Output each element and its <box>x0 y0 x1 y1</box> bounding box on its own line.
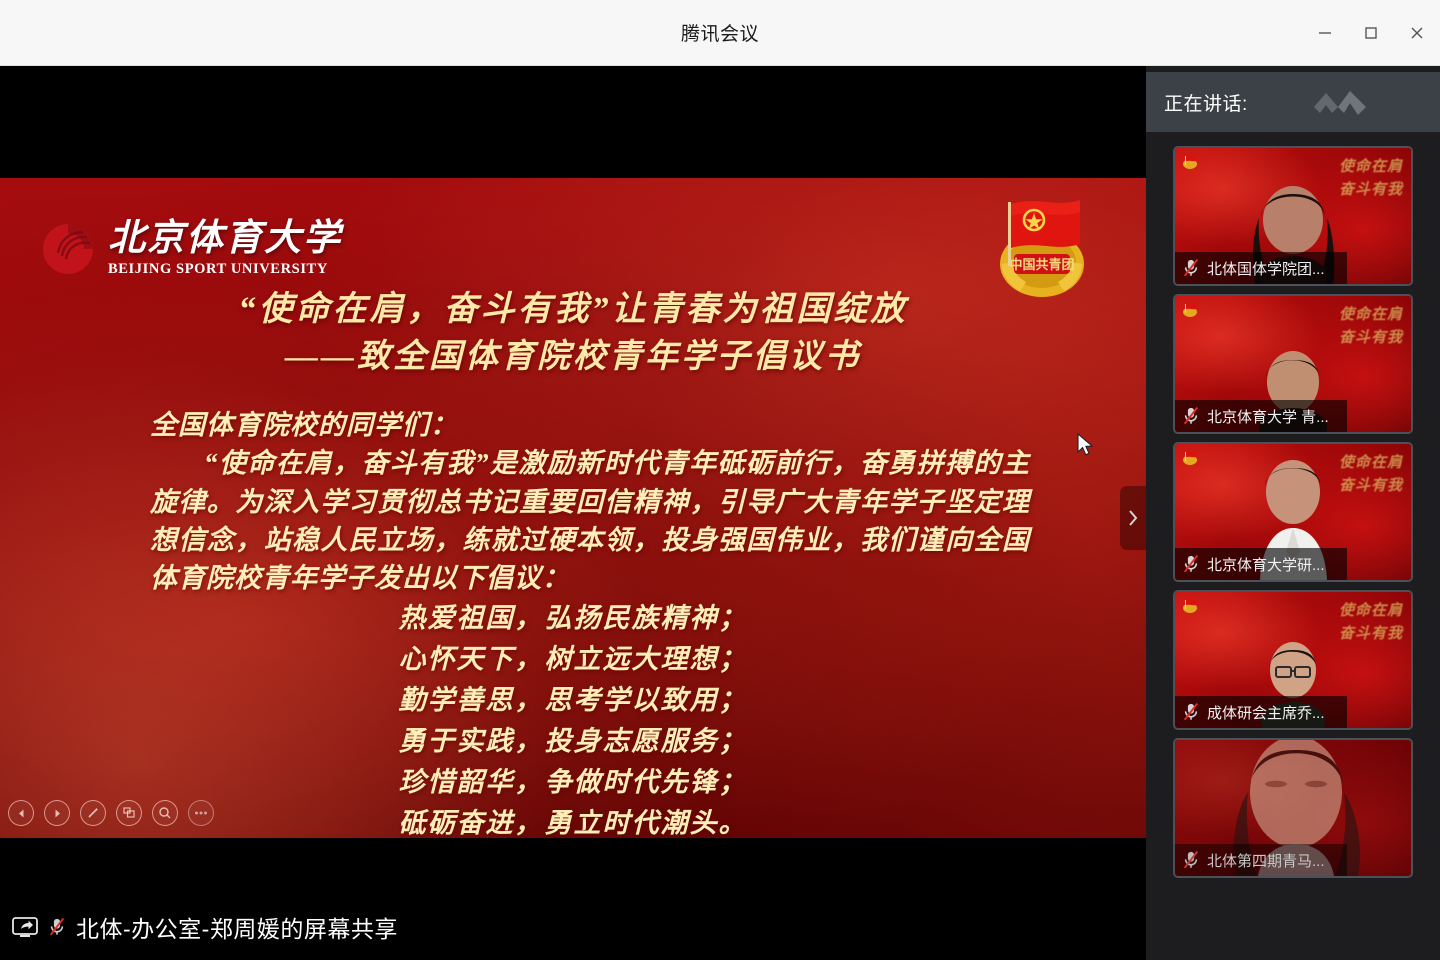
participant-name-bar: 北京体育大学研... <box>1175 548 1347 580</box>
magnifier-icon[interactable] <box>152 800 178 826</box>
microphone-muted-icon <box>48 917 66 937</box>
maximize-button[interactable] <box>1348 0 1394 66</box>
pledge-clause-b: 思考学以致用； <box>545 680 748 721</box>
cyl-badge-icon <box>1181 302 1199 318</box>
svg-text:中国共青团: 中国共青团 <box>1009 257 1074 272</box>
participant-name-bar: 北体第四期青马... <box>1175 844 1347 876</box>
participant-name: 北京体育大学研... <box>1207 554 1325 575</box>
participant-rail: 正在讲话: 使命在肩 奋斗有我 <box>1146 66 1440 960</box>
share-status-bar: 北体-办公室-郑周媛的屏幕共享 <box>0 894 1146 960</box>
slide-paragraph: “使命在肩，奋斗有我”是激励新时代青年砥砺前行，奋勇拼搏的主旋律。为深入学习贯彻… <box>150 444 1030 597</box>
pledge-clause-a: 勇于实践， <box>399 721 545 762</box>
slide-title-line1: “使命在肩，奋斗有我”让青春为祖国绽放 <box>0 286 1146 334</box>
participant-name-bar: 北京体育大学 青... <box>1175 400 1347 432</box>
cyl-badge-icon <box>1181 450 1199 466</box>
list-item: 热爱祖国，弘扬民族精神； <box>399 598 748 639</box>
list-item: 心怀天下，树立远大理想； <box>399 639 748 680</box>
pledge-clause-a: 心怀天下， <box>399 639 545 680</box>
slide-overview-icon[interactable] <box>116 800 142 826</box>
pledge-clause-b: 投身志愿服务； <box>545 721 748 762</box>
bsu-swirl-icon <box>40 221 96 277</box>
tencent-meeting-window: 腾讯会议 <box>0 0 1440 960</box>
microphone-muted-icon <box>1182 702 1200 722</box>
microphone-muted-icon <box>1182 258 1200 278</box>
pledge-clause-b: 争做时代先锋； <box>545 762 748 803</box>
shared-slide[interactable]: 北京体育大学 BEIJING SPORT UNIVERSITY 中国共青团 <box>0 178 1146 838</box>
cyl-emblem-icon: 中国共青团 <box>980 192 1104 302</box>
participant-tiles: 使命在肩 奋斗有我 <box>1146 138 1440 960</box>
mouse-cursor-icon <box>1077 433 1095 459</box>
microphone-muted-icon <box>1182 554 1200 574</box>
university-name-cn: 北京体育大学 <box>108 220 342 257</box>
participant-tile[interactable]: 使命在肩 奋斗有我 <box>1173 146 1413 286</box>
participant-tile[interactable]: 使命在肩 奋斗有我 <box>1173 442 1413 582</box>
chevron-right-icon <box>1125 506 1141 530</box>
screen-share-icon <box>12 916 38 938</box>
pledge-clause-a: 砥砺奋进， <box>399 803 545 838</box>
participant-name-bar: 成体研会主席乔... <box>1175 696 1347 728</box>
slide-title: “使命在肩，奋斗有我”让青春为祖国绽放 ——致全国体育院校青年学子倡议书 <box>0 286 1146 381</box>
pledge-clause-a: 珍惜韶华， <box>399 762 545 803</box>
slide-body: 全国体育院校的同学们： “使命在肩，奋斗有我”是激励新时代青年砥砺前行，奋勇拼搏… <box>150 406 1030 598</box>
participant-name: 北体国体学院团... <box>1207 258 1325 279</box>
microphone-muted-icon <box>1182 406 1200 426</box>
pledge-clause-b: 弘扬民族精神； <box>545 598 748 639</box>
active-speaker-bar: 正在讲话: <box>1146 72 1440 132</box>
list-item: 珍惜韶华，争做时代先锋； <box>399 762 748 803</box>
slide-title-line2: ——致全国体育院校青年学子倡议书 <box>0 334 1146 381</box>
university-name-en: BEIJING SPORT UNIVERSITY <box>108 261 342 278</box>
pledge-clause-b: 树立远大理想； <box>545 639 748 680</box>
tencent-meeting-logo-icon <box>1308 83 1374 121</box>
prev-slide-button[interactable] <box>8 800 34 826</box>
pledge-clause-a: 勤学善思， <box>399 680 545 721</box>
close-button[interactable] <box>1394 0 1440 66</box>
participant-name: 成体研会主席乔... <box>1207 702 1325 723</box>
minimize-button[interactable] <box>1302 0 1348 66</box>
collapse-panel-button[interactable] <box>1120 486 1146 550</box>
shared-screen-stage[interactable]: 北京体育大学 BEIJING SPORT UNIVERSITY 中国共青团 <box>0 66 1146 960</box>
participant-name-bar: 北体国体学院团... <box>1175 252 1347 284</box>
cyl-badge-icon <box>1181 154 1199 170</box>
cyl-badge-icon <box>1181 598 1199 614</box>
participant-tile[interactable]: 使命在肩 奋斗有我 <box>1173 294 1413 434</box>
presentation-toolbar[interactable] <box>8 800 214 826</box>
active-speaker-label: 正在讲话: <box>1164 89 1248 116</box>
participant-name: 北京体育大学 青... <box>1207 406 1329 427</box>
participant-tile[interactable]: 北体第四期青马... <box>1173 738 1413 878</box>
participant-name: 北体第四期青马... <box>1207 850 1325 871</box>
title-bar: 腾讯会议 <box>0 0 1440 66</box>
pen-icon[interactable] <box>80 800 106 826</box>
list-item: 砥砺奋进，勇立时代潮头。 <box>399 803 748 838</box>
window-title: 腾讯会议 <box>681 19 759 46</box>
microphone-muted-icon <box>1182 850 1200 870</box>
window-controls <box>1302 0 1440 66</box>
slide-salutation: 全国体育院校的同学们： <box>150 406 1030 444</box>
share-status-label: 北体-办公室-郑周媛的屏幕共享 <box>76 910 398 944</box>
pledge-clause-b: 勇立时代潮头。 <box>545 803 748 838</box>
list-item: 勇于实践，投身志愿服务； <box>399 721 748 762</box>
university-logo: 北京体育大学 BEIJING SPORT UNIVERSITY <box>40 220 342 278</box>
next-slide-button[interactable] <box>44 800 70 826</box>
more-options-icon[interactable] <box>188 800 214 826</box>
pledge-clause-a: 热爱祖国， <box>399 598 545 639</box>
participant-tile[interactable]: 使命在肩 奋斗有我 <box>1173 590 1413 730</box>
list-item: 勤学善思，思考学以致用； <box>399 680 748 721</box>
